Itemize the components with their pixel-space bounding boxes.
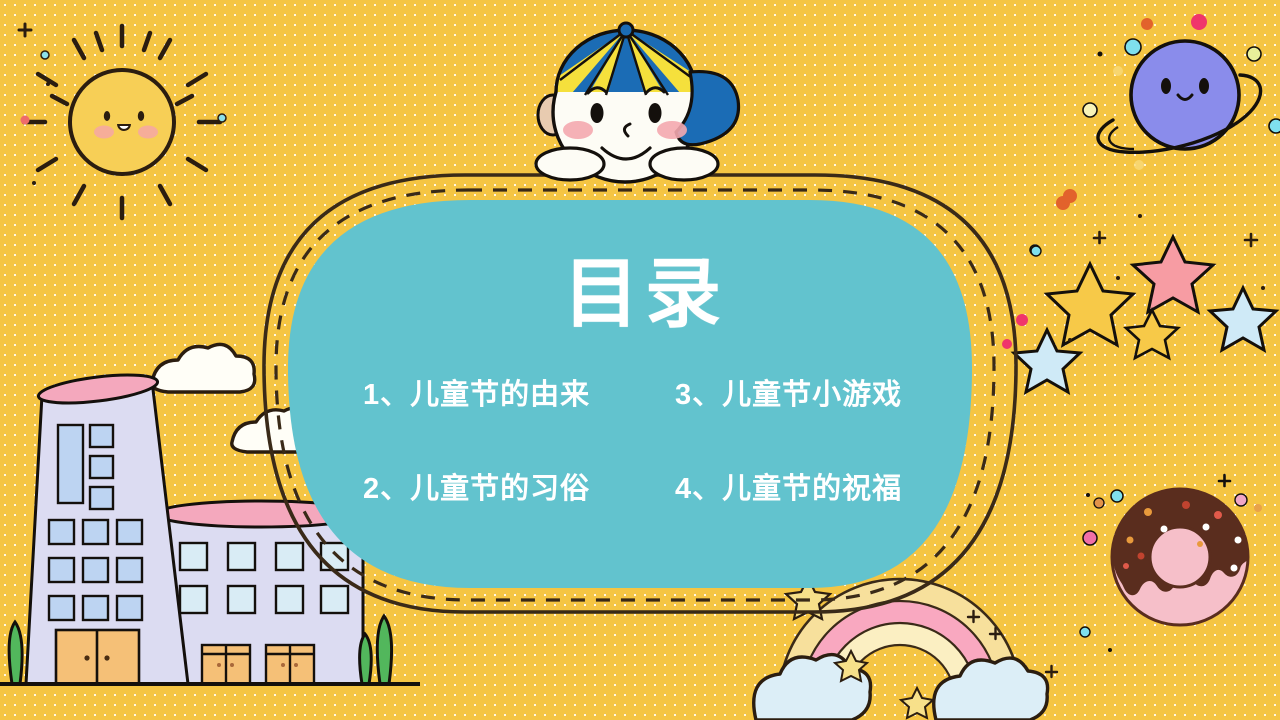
toc-item-2[interactable]: 2、儿童节的习俗: [315, 465, 645, 507]
toc-content: 目录 1、儿童节的由来 3、儿童节小游戏 2、儿童节的习俗 4、儿童节的祝福: [300, 215, 990, 545]
toc-item-1[interactable]: 1、儿童节的由来: [315, 371, 645, 413]
hand-right: [650, 148, 718, 180]
star-blue-1: [1210, 288, 1276, 350]
rainbow-icon: [754, 578, 1057, 720]
boy-character: [536, 20, 739, 182]
eye-left: [591, 103, 604, 123]
cap-icon: [550, 20, 739, 145]
star-yellow: [1047, 264, 1133, 345]
page-title: 目录: [563, 257, 727, 333]
grass-icon: [0, 616, 420, 684]
eye-right: [649, 103, 662, 123]
star-pink: [1133, 237, 1213, 312]
cheek-left: [563, 121, 593, 139]
star-tiny-1: [835, 651, 867, 681]
toc-list: 1、儿童节的由来 3、儿童节小游戏 2、儿童节的习俗 4、儿童节的祝福: [315, 371, 975, 507]
planet-icon: [1056, 14, 1280, 210]
star-cluster-right: [1014, 214, 1276, 392]
toc-item-3[interactable]: 3、儿童节小游戏: [645, 371, 975, 413]
star-tiny-2: [901, 688, 933, 718]
star-blue-2: [1014, 330, 1080, 392]
donut-icon: [1080, 475, 1262, 652]
slide-canvas: 目录 1、儿童节的由来 3、儿童节小游戏 2、儿童节的习俗 4、儿童节的祝福: [0, 0, 1280, 720]
star-yellow-small: [1126, 310, 1178, 358]
scatter-dots: [1002, 189, 1077, 349]
toc-item-4[interactable]: 4、儿童节的祝福: [645, 465, 975, 507]
sun-icon: [19, 24, 226, 218]
hand-left: [536, 148, 604, 180]
cheek-right: [657, 121, 687, 139]
cloud-icon-1: [152, 344, 255, 392]
star-small-yellow: [786, 578, 830, 619]
